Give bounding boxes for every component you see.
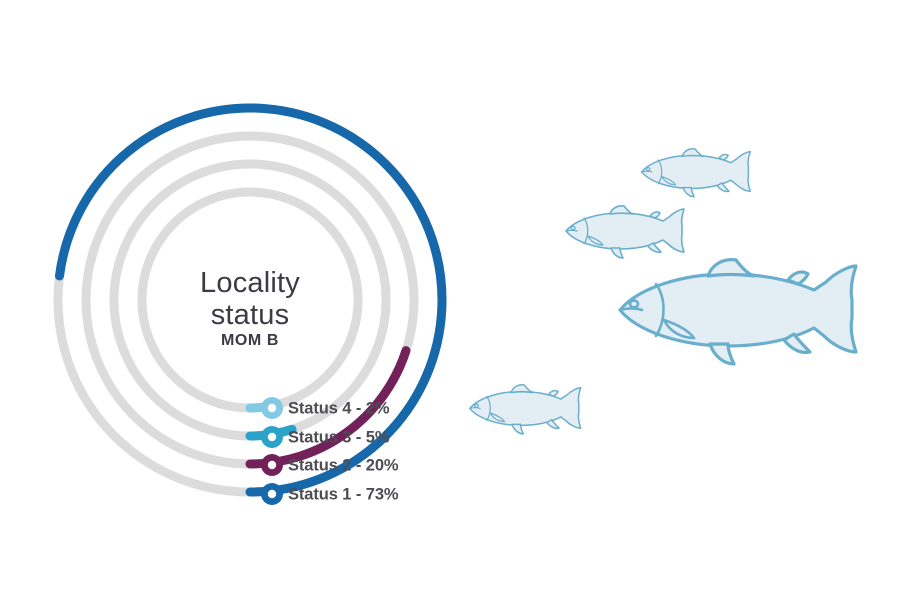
center-text-block: Locality status MOM B <box>200 267 300 349</box>
legend: Status 4 - 2% Status 3 - 5% Status 2 - 2… <box>261 397 399 505</box>
salmon-school-illustration <box>470 149 856 434</box>
center-title-line2: status <box>211 299 290 331</box>
center-subtitle: MOM B <box>221 332 279 349</box>
locality-status-infographic: Locality status MOM B Status 4 - 2% Stat… <box>0 0 900 600</box>
salmon-large <box>620 260 856 364</box>
legend-label-status-4: Status 4 - 2% <box>288 399 390 417</box>
legend-label-status-3: Status 3 - 5% <box>288 428 390 446</box>
legend-marker-inner-status-3 <box>268 433 276 441</box>
salmon-small-bottom <box>470 385 581 434</box>
center-title-line1: Locality <box>200 267 300 299</box>
legend-label-status-1: Status 1 - 73% <box>288 485 399 503</box>
legend-marker-inner-status-1 <box>268 490 276 498</box>
legend-label-status-2: Status 2 - 20% <box>288 456 399 474</box>
legend-marker-inner-status-2 <box>268 461 276 469</box>
salmon-small-middle <box>566 206 684 258</box>
salmon-small-top <box>642 149 751 197</box>
legend-marker-inner-status-4 <box>268 404 276 412</box>
